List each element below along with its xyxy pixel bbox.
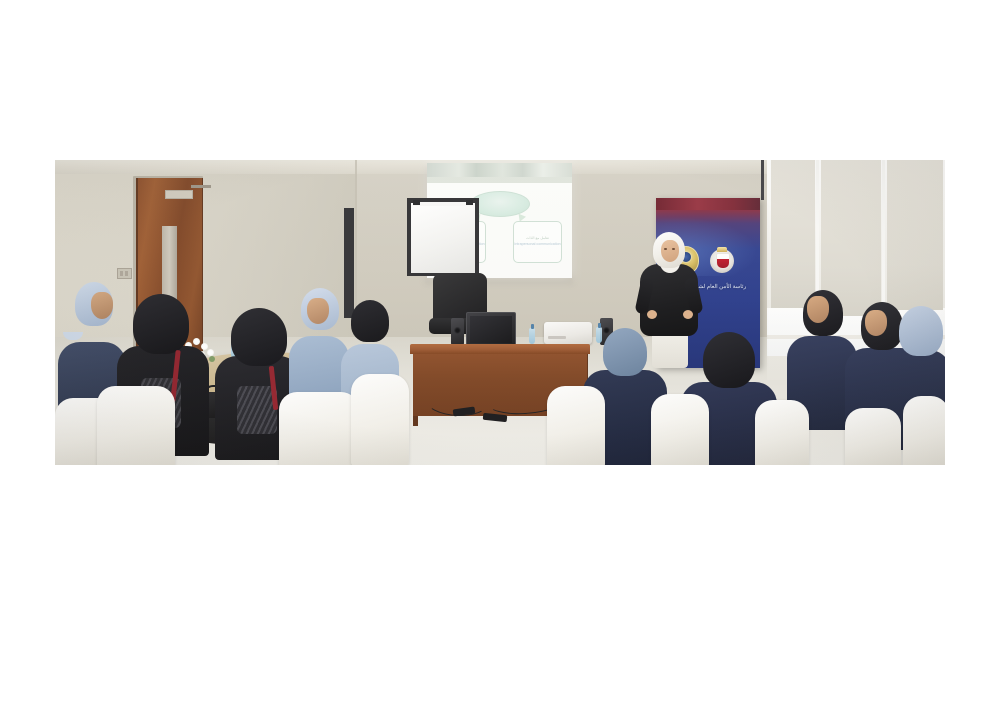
flipchart-clip: [466, 200, 473, 205]
banner-pole: [761, 160, 764, 200]
attendee-face: [865, 310, 887, 336]
chair-cover: [755, 400, 809, 465]
flipchart-top-bar: [413, 202, 473, 206]
chair-cover: [97, 386, 175, 465]
window-blind: [887, 160, 943, 310]
flipchart-paper: [411, 203, 475, 273]
presenter-face: [661, 240, 679, 262]
water-bottle: [529, 328, 535, 344]
door-closer: [191, 185, 211, 188]
speaker-left: [451, 318, 464, 345]
door-sign: [165, 190, 193, 199]
flipchart: [407, 198, 479, 276]
slide-box-right-english: Intrapersonal communication: [514, 242, 560, 247]
chair-cover: [279, 392, 359, 465]
attendee-hijab: [231, 308, 287, 366]
light-switch: [117, 268, 132, 279]
attendee-face: [807, 296, 829, 323]
attendee-face: [307, 298, 329, 324]
chair-cover: [547, 386, 605, 465]
chair-cover: [903, 396, 945, 465]
banner-top-band: [656, 198, 760, 210]
slide-box-right-arabic: تعامل مع الذات: [526, 236, 549, 240]
desk-top: [410, 344, 590, 354]
chair-cover: [651, 394, 709, 465]
slide-box-right: تعامل مع الذات Intrapersonal communicati…: [513, 221, 562, 263]
meeting-photograph: تعامل مع الآخر Interpersonal communicati…: [55, 160, 945, 465]
chair-cover: [845, 408, 901, 465]
attendee-hijab: [133, 294, 189, 354]
wall-picture-frame: [344, 208, 354, 318]
screenshot-canvas: تعامل مع الآخر Interpersonal communicati…: [0, 0, 1000, 727]
attendee-hijab: [351, 300, 389, 342]
presenter-trousers: [652, 332, 688, 368]
projector: [544, 322, 592, 344]
flipchart-clip: [413, 200, 420, 205]
water-bottle: [596, 327, 602, 343]
bahrain-coat-of-arms-emblem-icon: [709, 246, 735, 274]
window-blind: [771, 160, 815, 308]
presenter-hand-right: [683, 310, 693, 319]
attendee-hijab: [899, 306, 943, 356]
laptop: [466, 312, 516, 347]
presenter-hand-left: [647, 310, 657, 319]
chair-cover: [351, 374, 409, 465]
attendee-hijab: [703, 332, 755, 388]
attendee-face: [91, 292, 113, 319]
attendee-hijab: [603, 328, 647, 376]
slide-top-strip: [427, 163, 572, 177]
